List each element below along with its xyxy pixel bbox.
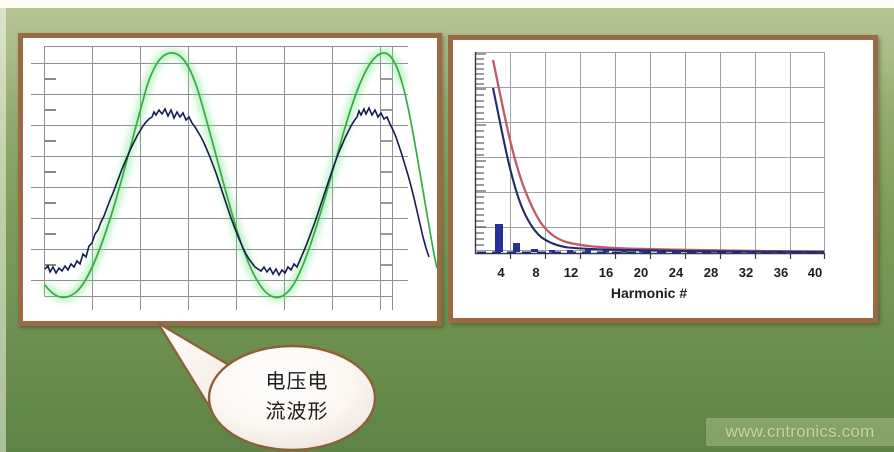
harmonic-bar bbox=[817, 251, 822, 253]
harmonic-bar bbox=[639, 250, 645, 253]
harmonic-bar bbox=[729, 251, 734, 253]
harmonic-x-tick-label: 40 bbox=[808, 265, 822, 280]
harmonic-x-tick-label: 28 bbox=[704, 265, 718, 280]
harmonic-plot: 4 8 12 16 20 24 28 32 36 40 Harmonic # bbox=[453, 40, 873, 318]
harmonic-bar bbox=[783, 251, 788, 253]
waveform-plot bbox=[23, 38, 437, 321]
watermark-text: www.cntronics.com bbox=[706, 419, 894, 445]
harmonic-x-tick-label: 16 bbox=[599, 265, 613, 280]
harmonic-x-tick-label: 24 bbox=[669, 265, 684, 280]
harmonic-bar bbox=[747, 251, 752, 253]
harmonic-bar bbox=[495, 224, 503, 252]
harmonic-bar bbox=[657, 251, 662, 253]
callout-label: 电压电 流波形 bbox=[232, 366, 362, 426]
slide-left-margin bbox=[0, 0, 6, 452]
harmonic-x-tick-label: 8 bbox=[532, 265, 539, 280]
callout-label-line1: 电压电 bbox=[232, 366, 362, 396]
harmonic-bar bbox=[531, 249, 538, 252]
harmonic-bar bbox=[621, 251, 627, 253]
slide-top-margin bbox=[0, 0, 894, 8]
harmonic-x-tick-label: 4 bbox=[497, 265, 505, 280]
harmonic-bar bbox=[603, 250, 609, 252]
waveform-panel bbox=[18, 33, 442, 326]
harmonic-x-tick-label: 12 bbox=[564, 265, 578, 280]
harmonic-bar bbox=[801, 251, 806, 253]
harmonic-x-tick-label: 20 bbox=[634, 265, 648, 280]
callout-label-line2: 流波形 bbox=[232, 396, 362, 426]
harmonic-svg: 4 8 12 16 20 24 28 32 36 40 Harmonic # bbox=[453, 40, 873, 318]
harmonic-x-tick-label: 32 bbox=[739, 265, 753, 280]
slide-canvas: 4 8 12 16 20 24 28 32 36 40 Harmonic # bbox=[0, 0, 894, 452]
harmonic-bar bbox=[711, 251, 716, 253]
harmonic-bar bbox=[585, 250, 591, 253]
harmonic-x-axis-title: Harmonic # bbox=[611, 285, 687, 301]
harmonic-panel: 4 8 12 16 20 24 28 32 36 40 Harmonic # bbox=[448, 35, 878, 323]
harmonic-bar bbox=[549, 250, 555, 253]
harmonic-bar bbox=[675, 251, 680, 253]
harmonic-bar bbox=[765, 251, 770, 253]
harmonic-bar bbox=[513, 243, 520, 252]
waveform-panel-inner bbox=[23, 38, 437, 321]
harmonic-panel-inner: 4 8 12 16 20 24 28 32 36 40 Harmonic # bbox=[453, 40, 873, 318]
waveform-svg bbox=[23, 38, 437, 321]
harmonic-x-tick-label: 36 bbox=[774, 265, 788, 280]
harmonic-bar bbox=[693, 251, 698, 253]
harmonic-bar bbox=[567, 250, 573, 253]
